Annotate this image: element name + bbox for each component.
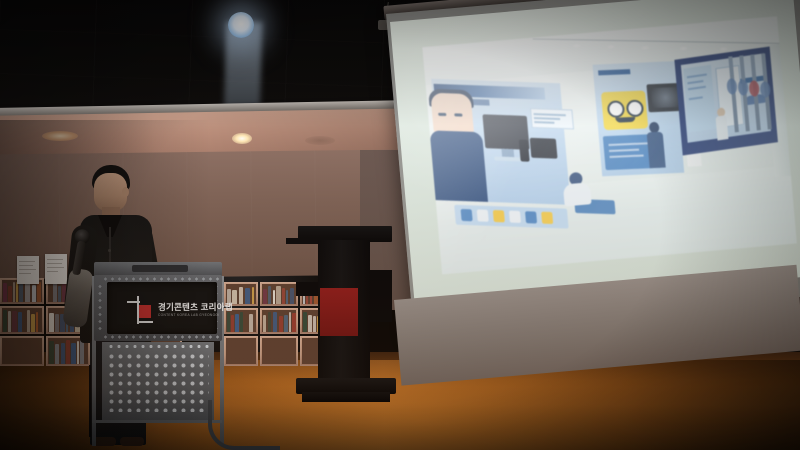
book-spine	[282, 288, 285, 304]
book-spine	[55, 314, 59, 332]
shelf-cell	[226, 338, 256, 364]
book-spine	[276, 286, 281, 304]
slide-entry-panel	[431, 79, 571, 205]
book-spine	[32, 285, 36, 302]
book-spine	[8, 311, 11, 332]
lectern-lower-body	[102, 342, 214, 420]
venue-logo: 경기콘텐츠 코리아랩 CONTENT KOREA LAB GYEONGGI	[127, 293, 223, 327]
slide-visitor-figure	[562, 171, 591, 205]
book-spine	[25, 282, 30, 302]
logo-lectern: 경기콘텐츠 코리아랩 CONTENT KOREA LAB GYEONGGI	[90, 262, 226, 450]
lectern-perforated-panel	[107, 352, 209, 412]
venue-logo-text: 경기콘텐츠 코리아랩 CONTENT KOREA LAB GYEONGGI	[158, 303, 233, 317]
book-spine	[263, 289, 267, 304]
slide-light-track	[533, 39, 783, 44]
presentation-scene: 경기콘텐츠 코리아랩 CONTENT KOREA LAB GYEONGGI Sp…	[0, 0, 800, 450]
slide-panel-logo	[598, 69, 630, 75]
book-spine	[231, 315, 234, 332]
lectern-upper-body: 경기콘텐츠 코리아랩 CONTENT KOREA LAB GYEONGGI	[94, 275, 222, 341]
podium-base-plinth	[302, 392, 390, 402]
stage-podium	[296, 226, 396, 412]
book-spine	[235, 314, 239, 332]
presenter-ear	[122, 187, 129, 197]
lectern-rivet-column	[98, 283, 102, 333]
shelf-cell	[2, 308, 42, 332]
book-spine	[289, 312, 291, 332]
venue-logo-mark-icon	[127, 296, 153, 324]
book-spine	[252, 287, 254, 304]
slide-booth-wall	[683, 65, 716, 133]
lectern-perforation-top	[107, 344, 209, 349]
projected-slide	[422, 16, 797, 274]
slide-phone-icon	[519, 139, 530, 161]
slide-display-panel	[592, 61, 684, 176]
lectern-logo-plate: 경기콘텐츠 코리아랩 CONTENT KOREA LAB GYEONGGI	[107, 282, 217, 334]
slide-icon-strip	[454, 205, 569, 229]
book-spine	[239, 287, 243, 304]
book-spine	[268, 312, 271, 332]
book-spine	[263, 315, 266, 332]
book-spine	[31, 314, 35, 332]
book-spine	[37, 282, 41, 302]
book-spine	[3, 310, 7, 332]
book-spine	[13, 282, 15, 302]
podium-wing-right	[370, 270, 392, 322]
recessed-downlight-off-icon	[305, 136, 335, 145]
book-spine	[36, 312, 38, 332]
shelf-cell	[262, 310, 296, 332]
book-spine	[8, 286, 12, 302]
lectern-shelf	[92, 420, 222, 423]
book-spine	[245, 288, 250, 304]
book-spine	[273, 312, 277, 332]
slide-staff-figure	[646, 122, 666, 169]
book-spine	[49, 313, 54, 332]
slide-callout-box	[530, 108, 574, 129]
book-spine	[12, 311, 17, 332]
screen-surface	[390, 0, 800, 311]
recessed-downlight-icon	[232, 133, 252, 144]
lectern-rivet-row	[102, 335, 222, 339]
book-spine	[49, 283, 52, 302]
ceiling-spotlight-icon	[228, 12, 254, 38]
book-spine	[268, 286, 271, 304]
book-spine	[273, 290, 275, 304]
book-spine	[27, 310, 30, 332]
book-spine	[49, 341, 54, 364]
book-spine	[53, 283, 57, 302]
shelf-notice-left	[17, 256, 39, 284]
book-spine	[19, 282, 23, 302]
book-spine	[240, 312, 243, 332]
lectern-top-slot	[132, 265, 188, 272]
lectern-top	[94, 262, 222, 276]
book-spine	[58, 286, 61, 302]
shelf-cell	[262, 284, 296, 304]
venue-logo-korean: 경기콘텐츠 코리아랩	[158, 303, 233, 312]
book-spine	[286, 290, 288, 304]
lectern-rivet-row	[102, 277, 222, 281]
book-spine	[3, 283, 7, 302]
book-spine	[232, 290, 237, 304]
podium-red-accent	[320, 288, 358, 336]
book-spine	[18, 312, 22, 332]
slide-yellow-character	[601, 90, 648, 130]
shelf-cell	[2, 338, 42, 364]
slide-monitor-small	[530, 138, 558, 159]
microphone-body	[72, 241, 86, 276]
book-spine	[16, 282, 18, 302]
projection-screen	[372, 0, 800, 400]
book-spine	[244, 315, 248, 332]
slide-figure-body	[430, 130, 488, 202]
shelf-cell	[262, 338, 296, 364]
lectern-side-rail	[208, 400, 280, 450]
book-spine	[284, 315, 288, 332]
book-spine	[290, 288, 294, 304]
shelf-cell	[226, 284, 256, 304]
book-spine	[249, 314, 253, 332]
book-spine	[279, 316, 283, 332]
book-spine	[55, 344, 59, 364]
venue-logo-english: CONTENT KOREA LAB GYEONGGI	[158, 314, 233, 317]
recessed-downlight-icon	[42, 131, 78, 141]
book-spine	[23, 312, 25, 332]
